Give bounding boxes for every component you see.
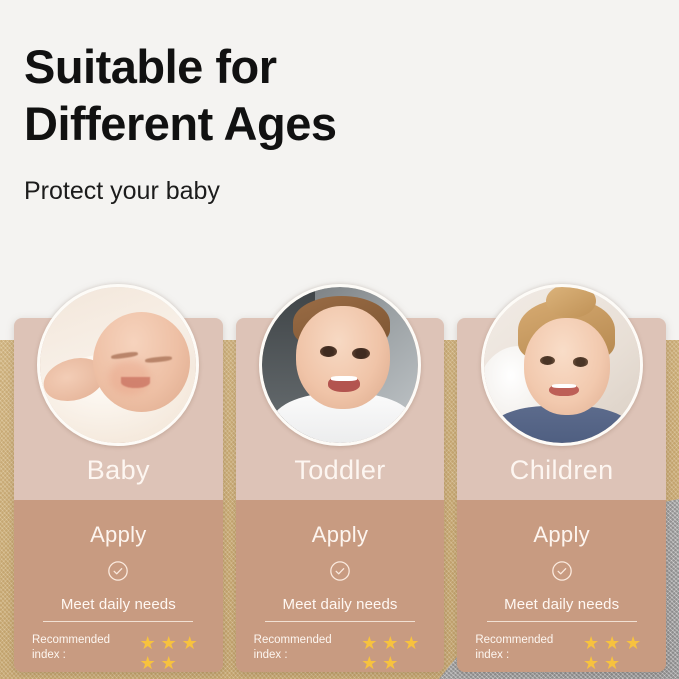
divider [487, 621, 637, 622]
star-icon: ★ [402, 634, 420, 652]
star-rating: ★ ★ ★ ★ ★ [582, 633, 648, 672]
star-icon: ★ [603, 654, 621, 672]
card-bottom-toddler: Apply Meet daily needs Recommended index… [236, 500, 445, 672]
age-card-baby[interactable]: Baby Apply Meet daily needs Recommended … [14, 318, 223, 672]
age-card-children[interactable]: Children Apply Meet daily needs Recommen… [457, 318, 666, 672]
page-title-line-2: Different Ages [24, 97, 336, 150]
recommended-index-label: Recommended index : [475, 633, 553, 663]
recommended-index-row: Recommended index : ★ ★ ★ ★ ★ [14, 633, 223, 672]
age-label: Children [457, 455, 666, 486]
page-title-line-1: Suitable for [24, 40, 277, 93]
recommended-index-label: Recommended index : [32, 633, 110, 663]
avatar [481, 284, 643, 446]
star-icon: ★ [381, 654, 399, 672]
star-rating: ★ ★ ★ ★ ★ [360, 633, 426, 672]
divider [265, 621, 415, 622]
page-title: Suitable for Different Ages [24, 38, 454, 152]
card-top-children: Children [457, 318, 666, 500]
age-card-toddler[interactable]: Toddler Apply Meet daily needs Recommend… [236, 318, 445, 672]
sleeping-newborn-photo [40, 287, 196, 443]
age-label: Baby [14, 455, 223, 486]
need-text: Meet daily needs [283, 596, 398, 613]
recommended-index-label: Recommended index : [254, 633, 332, 663]
need-text: Meet daily needs [61, 596, 176, 613]
check-circle-icon [551, 560, 573, 582]
check-circle-icon [329, 560, 351, 582]
card-bottom-children: Apply Meet daily needs Recommended index… [457, 500, 666, 672]
star-icon: ★ [160, 654, 178, 672]
check-circle-icon [107, 560, 129, 582]
hero-text-block: Suitable for Different Ages Protect your… [24, 38, 454, 206]
star-icon: ★ [139, 634, 157, 652]
star-icon: ★ [624, 634, 642, 652]
card-bottom-baby: Apply Meet daily needs Recommended index… [14, 500, 223, 672]
star-icon: ★ [360, 634, 378, 652]
star-icon: ★ [603, 634, 621, 652]
avatar [37, 284, 199, 446]
star-icon: ★ [381, 634, 399, 652]
star-icon: ★ [582, 634, 600, 652]
avatar [259, 284, 421, 446]
recommended-index-row: Recommended index : ★ ★ ★ ★ ★ [457, 633, 666, 672]
age-label: Toddler [236, 455, 445, 486]
promo-banner: Suitable for Different Ages Protect your… [0, 0, 679, 679]
divider [43, 621, 193, 622]
star-icon: ★ [139, 654, 157, 672]
age-card-list: Baby Apply Meet daily needs Recommended … [14, 318, 666, 672]
need-text: Meet daily needs [504, 596, 619, 613]
star-rating: ★ ★ ★ ★ ★ [139, 633, 205, 672]
apply-label: Apply [533, 522, 590, 548]
card-top-toddler: Toddler [236, 318, 445, 500]
apply-label: Apply [312, 522, 369, 548]
recommended-index-row: Recommended index : ★ ★ ★ ★ ★ [236, 633, 445, 672]
smiling-toddler-photo [262, 287, 418, 443]
apply-label: Apply [90, 522, 147, 548]
star-icon: ★ [582, 654, 600, 672]
star-icon: ★ [360, 654, 378, 672]
star-icon: ★ [181, 634, 199, 652]
young-girl-photo [484, 287, 640, 443]
page-subtitle: Protect your baby [24, 176, 454, 206]
card-top-baby: Baby [14, 318, 223, 500]
star-icon: ★ [160, 634, 178, 652]
